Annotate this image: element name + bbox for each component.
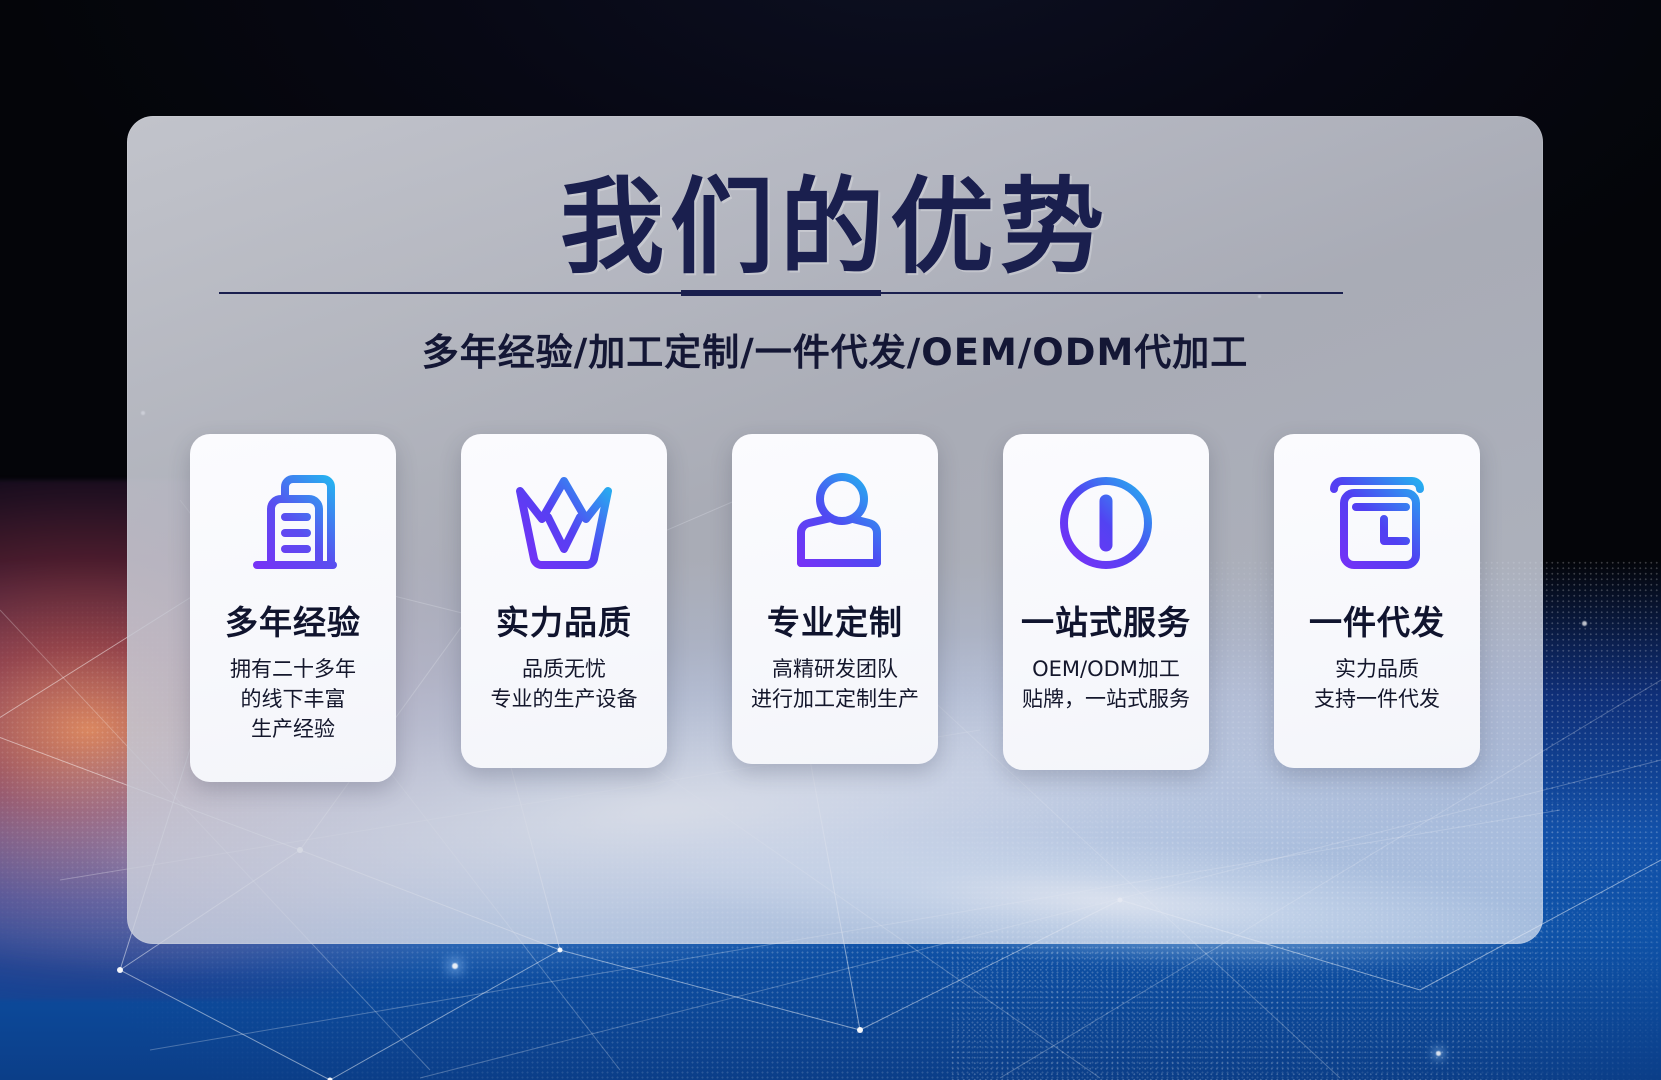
desc-line: 品质无忧: [491, 655, 638, 685]
sparkle-dot: [1582, 621, 1587, 626]
advantage-card-description: 高精研发团队 进行加工定制生产: [751, 655, 919, 715]
advantage-card-description: OEM/ODM加工 贴牌，一站式服务: [1022, 655, 1190, 715]
advantage-card[interactable]: 实力品质 品质无忧 专业的生产设备: [461, 434, 667, 768]
advantage-card[interactable]: 一站式服务 OEM/ODM加工 贴牌，一站式服务: [1003, 434, 1209, 770]
advantages-panel: 我们的优势 多年经验/加工定制/一件代发/OEM/ODM代加工: [127, 116, 1543, 944]
advantage-card[interactable]: 多年经验 拥有二十多年 的线下丰富 生产经验: [190, 434, 396, 782]
advantage-card-description: 品质无忧 专业的生产设备: [491, 655, 638, 715]
circle-bar-icon: [1050, 464, 1162, 582]
advantage-card-description: 拥有二十多年 的线下丰富 生产经验: [230, 655, 356, 744]
desc-line: 支持一件代发: [1314, 685, 1440, 715]
person-icon: [779, 464, 891, 582]
advantage-card-title: 专业定制: [767, 596, 903, 644]
desc-line: 生产经验: [230, 715, 356, 745]
divider-accent: [681, 290, 881, 296]
desc-line: 拥有二十多年: [230, 655, 356, 685]
page-title: 我们的优势: [127, 142, 1543, 293]
desc-line: 进行加工定制生产: [751, 685, 919, 715]
sparkle-dot: [1436, 1051, 1441, 1056]
advantage-card-title: 实力品质: [496, 596, 632, 644]
desc-line: OEM/ODM加工: [1022, 655, 1190, 685]
desc-line: 高精研发团队: [751, 655, 919, 685]
sparkle-dot: [452, 963, 458, 969]
page-subtitle: 多年经验/加工定制/一件代发/OEM/ODM代加工: [127, 322, 1543, 376]
advantage-card-list: 多年经验 拥有二十多年 的线下丰富 生产经验: [190, 434, 1480, 784]
crown-icon: [504, 464, 624, 582]
advantage-card[interactable]: 专业定制 高精研发团队 进行加工定制生产: [732, 434, 938, 764]
desc-line: 的线下丰富: [230, 685, 356, 715]
advantage-card-title: 一站式服务: [1021, 596, 1191, 644]
title-divider: [219, 290, 1343, 296]
advantage-card-title: 多年经验: [225, 596, 361, 644]
desc-line: 实力品质: [1314, 655, 1440, 685]
desc-line: 贴牌，一站式服务: [1022, 685, 1190, 715]
advantage-card-description: 实力品质 支持一件代发: [1314, 655, 1440, 715]
advantage-card[interactable]: 一件代发 实力品质 支持一件代发: [1274, 434, 1480, 768]
building-chart-icon: [237, 464, 349, 582]
advantage-card-title: 一件代发: [1309, 596, 1445, 644]
package-box-icon: [1318, 464, 1436, 582]
desc-line: 专业的生产设备: [491, 685, 638, 715]
